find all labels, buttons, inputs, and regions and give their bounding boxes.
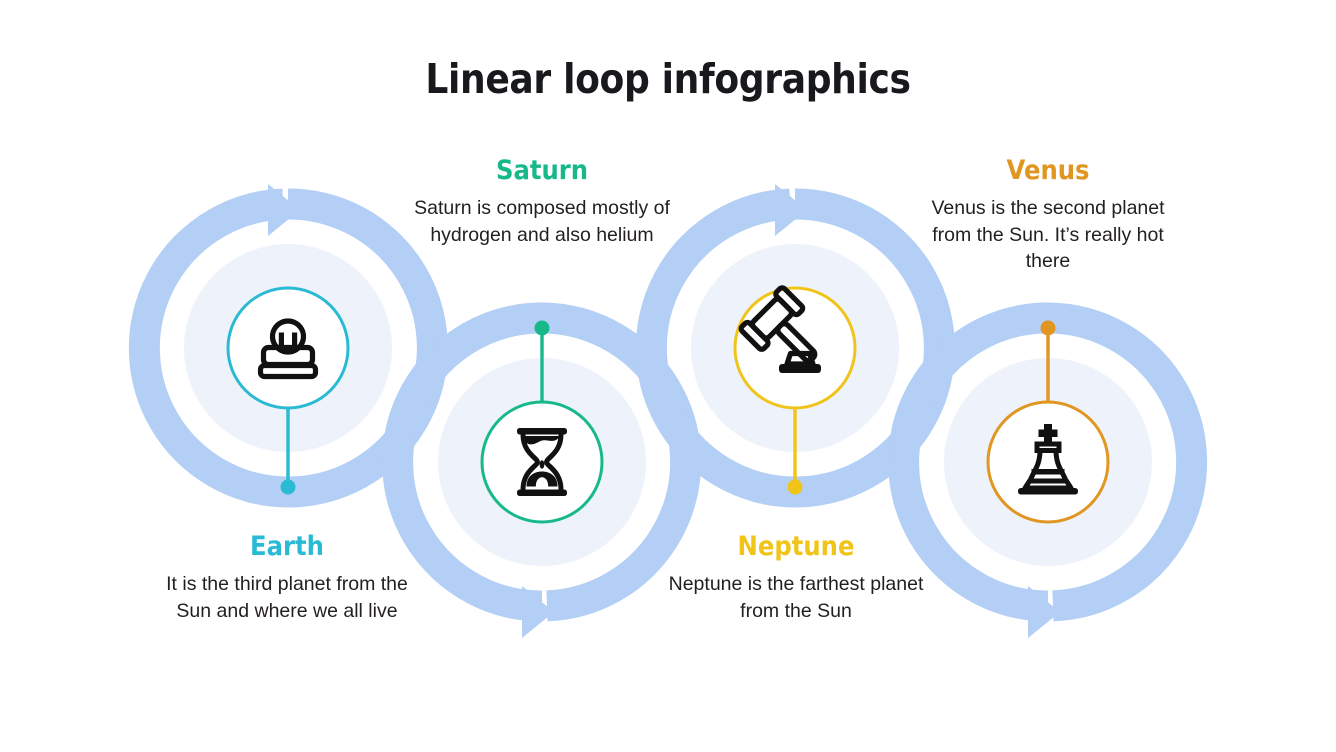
- text-block-earth: Earth It is the third planet from the Su…: [157, 531, 417, 624]
- icon-circle-venus[interactable]: [988, 402, 1108, 522]
- label-neptune: Neptune: [679, 531, 913, 563]
- icon-circle-saturn[interactable]: [482, 402, 602, 522]
- slide-canvas: Linear loop infographics: [0, 0, 1336, 752]
- text-block-neptune: Neptune Neptune is the farthest planet f…: [666, 531, 926, 624]
- text-block-venus: Venus Venus is the second planet from th…: [918, 155, 1178, 275]
- label-earth: Earth: [170, 531, 404, 563]
- label-saturn: Saturn: [425, 155, 659, 187]
- connector-dot-neptune: [788, 480, 803, 495]
- loop-diagram: [0, 0, 1336, 752]
- icon-circle-neptune[interactable]: [735, 286, 855, 408]
- icon-circle-earth[interactable]: [228, 288, 348, 408]
- connector-dot-saturn: [535, 321, 550, 336]
- description-neptune: Neptune is the farthest planet from the …: [666, 571, 926, 624]
- connector-dot-venus: [1041, 321, 1056, 336]
- description-earth: It is the third planet from the Sun and …: [157, 571, 417, 624]
- connector-dot-earth: [281, 480, 296, 495]
- label-venus: Venus: [931, 155, 1165, 187]
- description-venus: Venus is the second planet from the Sun.…: [918, 195, 1178, 275]
- description-saturn: Saturn is composed mostly of hydrogen an…: [412, 195, 672, 248]
- text-block-saturn: Saturn Saturn is composed mostly of hydr…: [412, 155, 672, 248]
